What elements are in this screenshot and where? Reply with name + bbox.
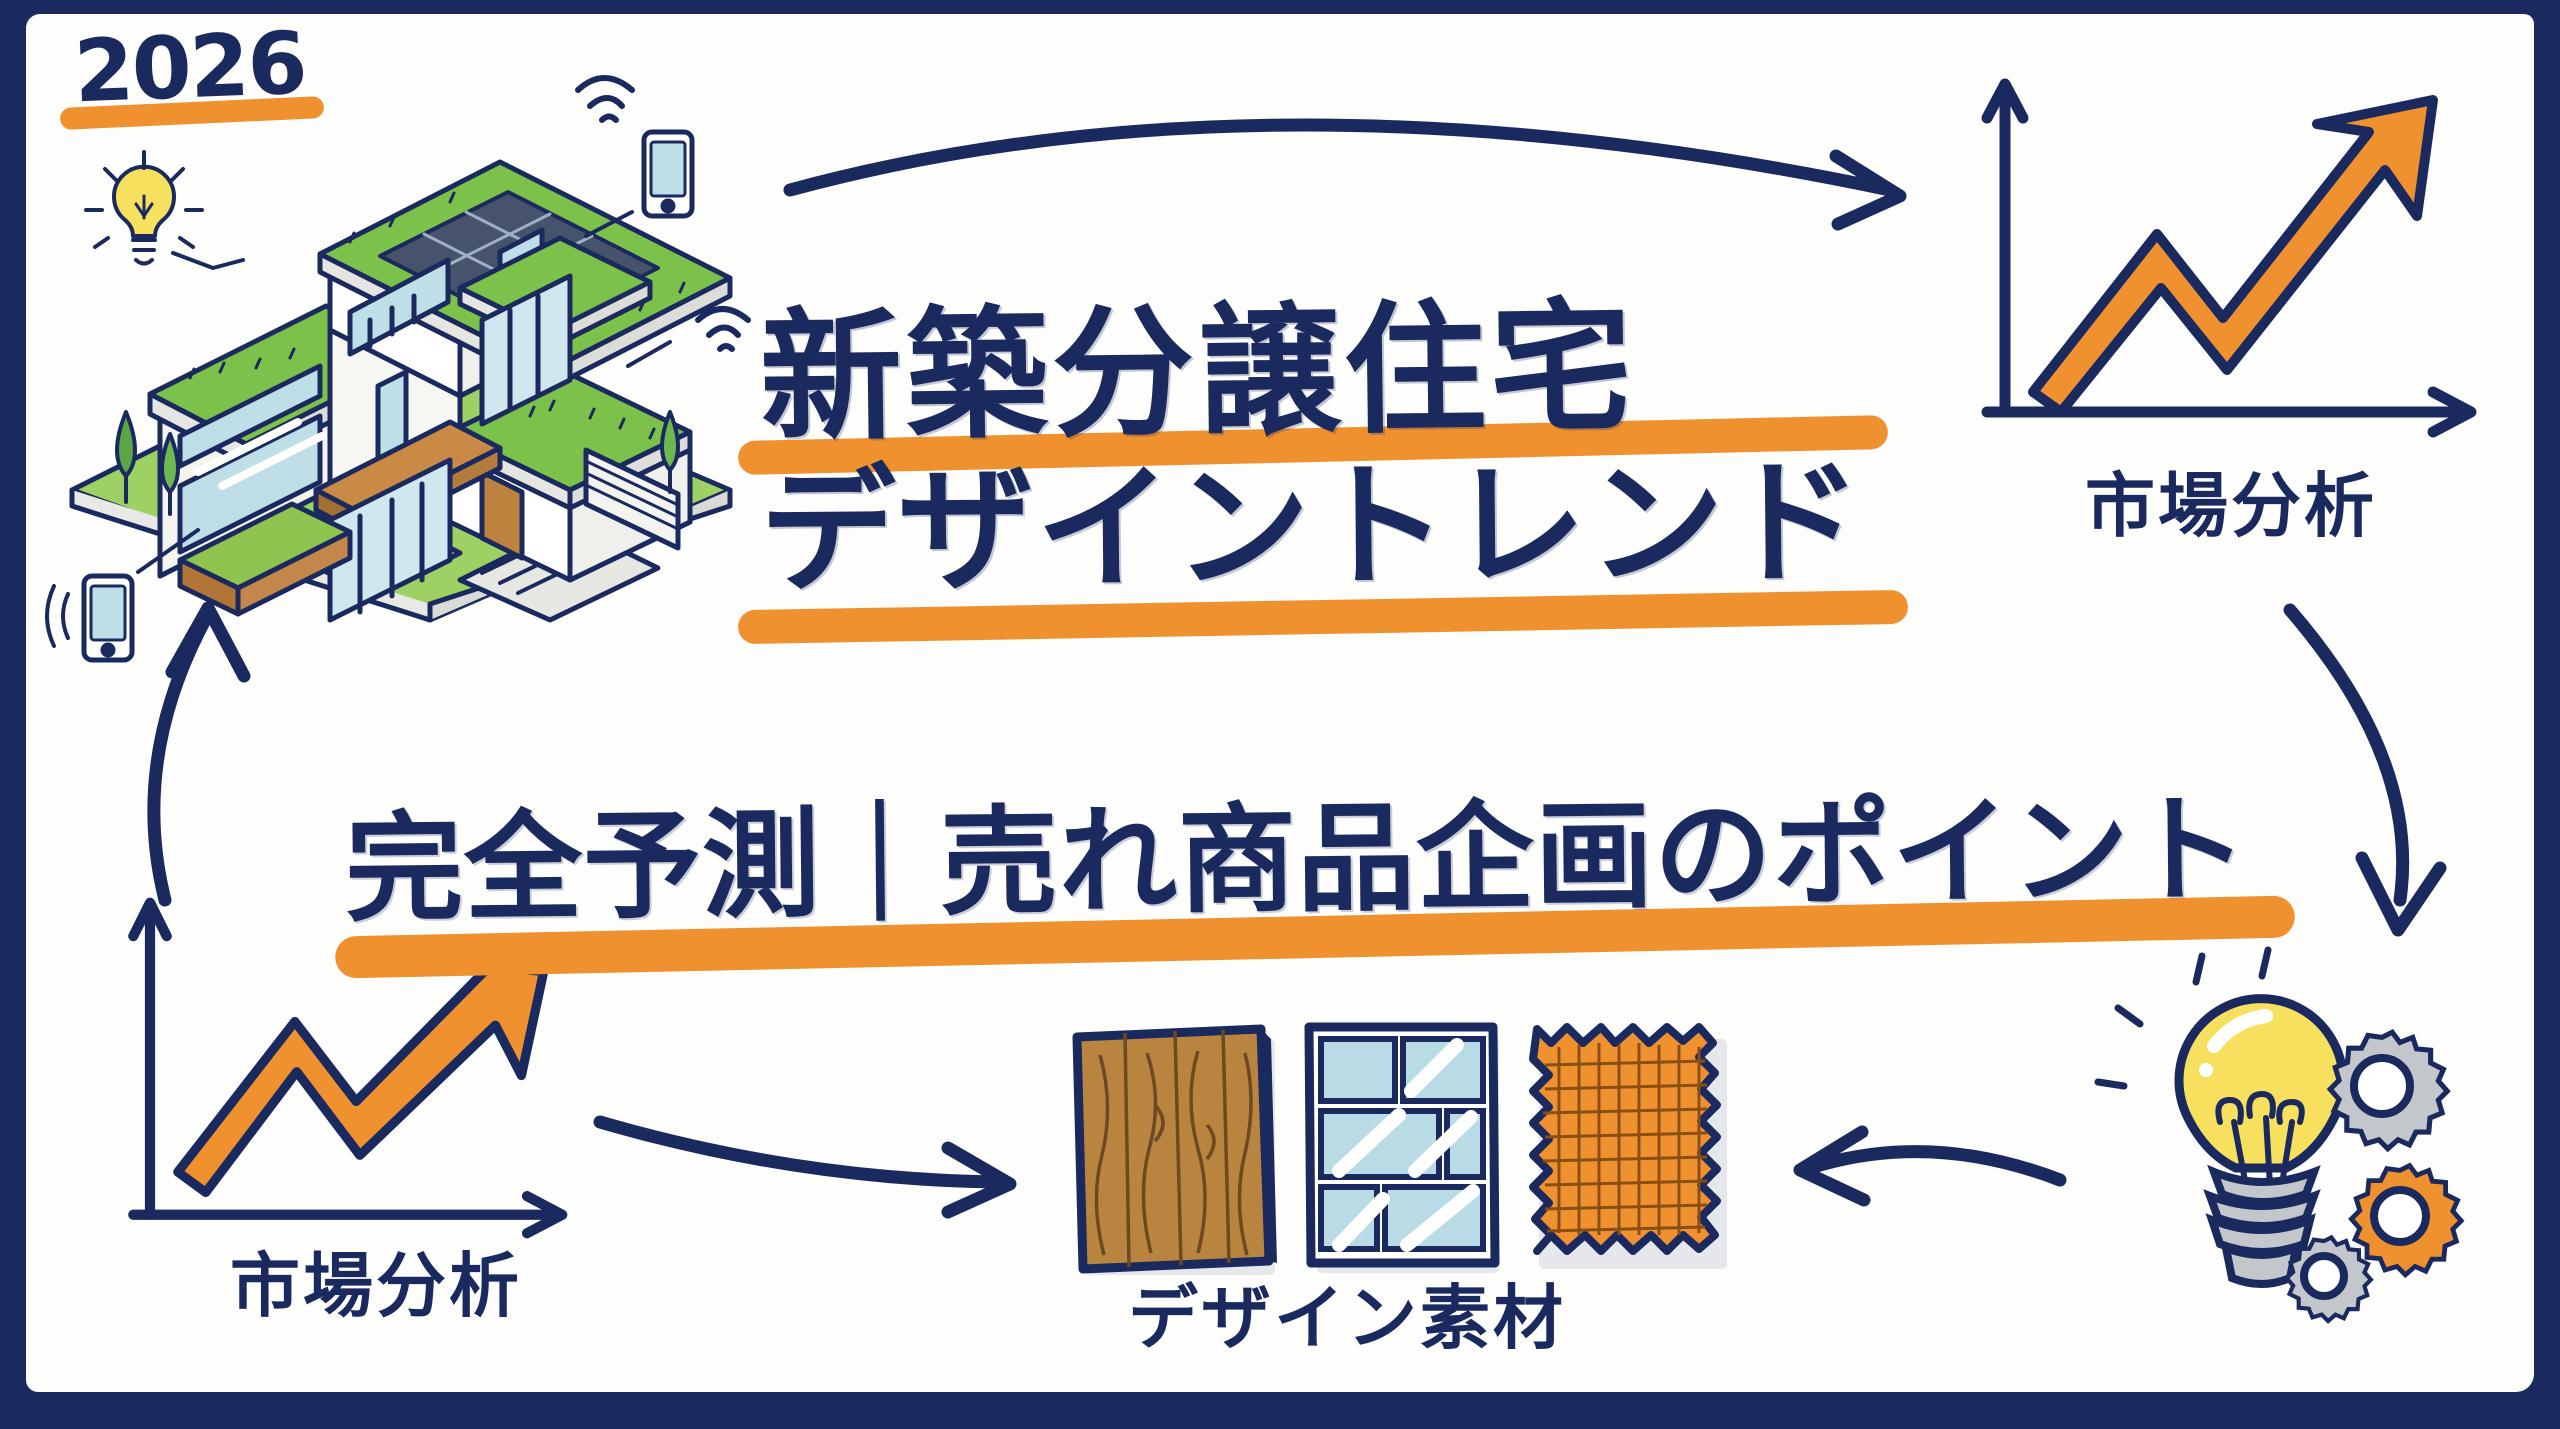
title-line-1: 新築分譲住宅 [759,293,1921,452]
wifi-icon [698,309,748,349]
gear-icon [2351,1166,2461,1275]
fabric-material-swatch-icon [1533,1027,1717,1251]
subtitle-text: 完全予測｜売れ商品企画のポイント [344,790,2305,929]
caption-market-analysis-bottom-left: 市場分析 [230,1230,522,1331]
tile-material-swatch-icon [1309,1027,1495,1263]
caption-design-materials: デザイン素材 [1128,1262,1566,1363]
wood-material-swatch-icon [1077,1029,1277,1269]
smartphone-icon [84,576,132,660]
eco-smart-house-illustration [30,20,770,620]
chart-growth-arrow [2033,100,2433,412]
idea-gears-illustration [2110,930,2540,1300]
subtitle-block: 完全予測｜売れ商品企画のポイント [345,800,2305,918]
chart-growth-arrow [178,962,544,1192]
lightbulb-icon [86,152,243,268]
title-block: 新築分譲住宅 デザイントレンド [760,300,1920,598]
poster-canvas: 2026 [0,0,2560,1429]
caption-market-analysis-top-right: 市場分析 [2085,450,2377,551]
wifi-icon [578,78,632,120]
growth-chart-top-right [1965,40,2525,440]
smartphone-icon [644,132,692,216]
title-line-2: デザイントレンド [759,454,1920,603]
design-materials-illustration [1055,995,1755,1285]
gear-icon [2287,1237,2371,1321]
gear-icon [2330,1032,2447,1148]
